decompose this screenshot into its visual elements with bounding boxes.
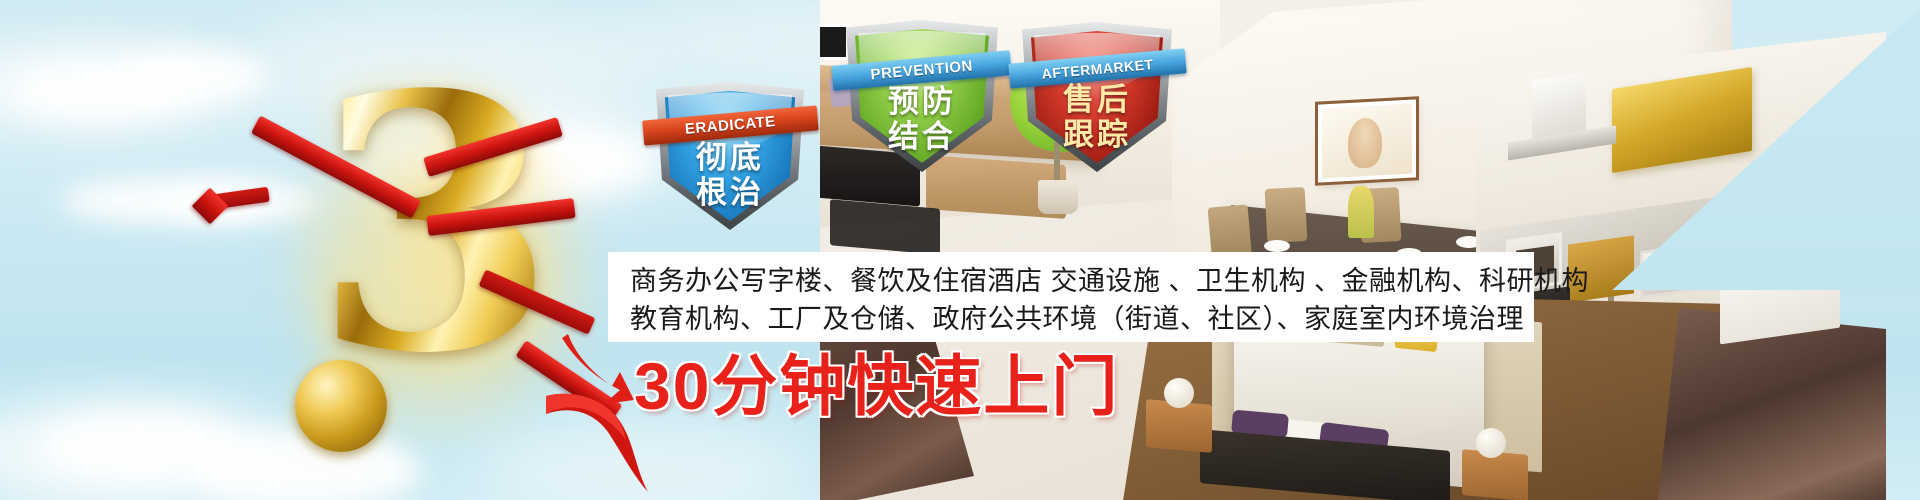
shield-chinese-line2: 根治 — [656, 177, 804, 209]
table-centerpiece — [1348, 186, 1374, 238]
service-scope-line-2: 教育机构、工厂及仓储、政府公共环境（街道、社区）、家庭室内环境治理 — [630, 300, 1512, 338]
service-scope-panel: 商务办公写字楼、餐饮及住宿酒店 交通设施 、卫生机构 、金融机构、科研机构 教育… — [608, 252, 1534, 342]
plant-pot — [1038, 180, 1078, 214]
shield-prevention: PREVENTION 预防 结合 — [846, 20, 998, 172]
shield-eradicate: ERADICATE 彻底 根治 — [656, 82, 804, 230]
dining-chair — [1265, 187, 1308, 243]
shield-chinese-line1: 彻底 — [656, 142, 804, 174]
service-scope-line-1: 商务办公写字楼、餐饮及住宿酒店 交通设施 、卫生机构 、金融机构、科研机构 — [630, 262, 1512, 300]
shield-chinese-line1: 预防 — [846, 86, 998, 118]
shield-chinese-line1: 售后 — [1022, 84, 1172, 116]
area-rug — [830, 199, 940, 255]
shield-chinese-line2: 跟踪 — [1022, 119, 1172, 151]
painting-figure — [1348, 117, 1382, 169]
wall-art-frame — [820, 24, 849, 60]
table-lamp — [1164, 378, 1194, 408]
table-lamp — [1476, 428, 1506, 458]
shield-aftermarket: AFTERMARKET 售后 跟踪 — [1022, 22, 1172, 172]
table-plate — [1264, 240, 1290, 252]
promo-banner: 3 ERADICATE 彻底 根治 P — [0, 0, 1920, 500]
shield-chinese-line2: 结合 — [846, 121, 998, 153]
headline-text: 30分钟快速上门 — [634, 353, 1119, 419]
arrow-head-path — [562, 334, 634, 404]
